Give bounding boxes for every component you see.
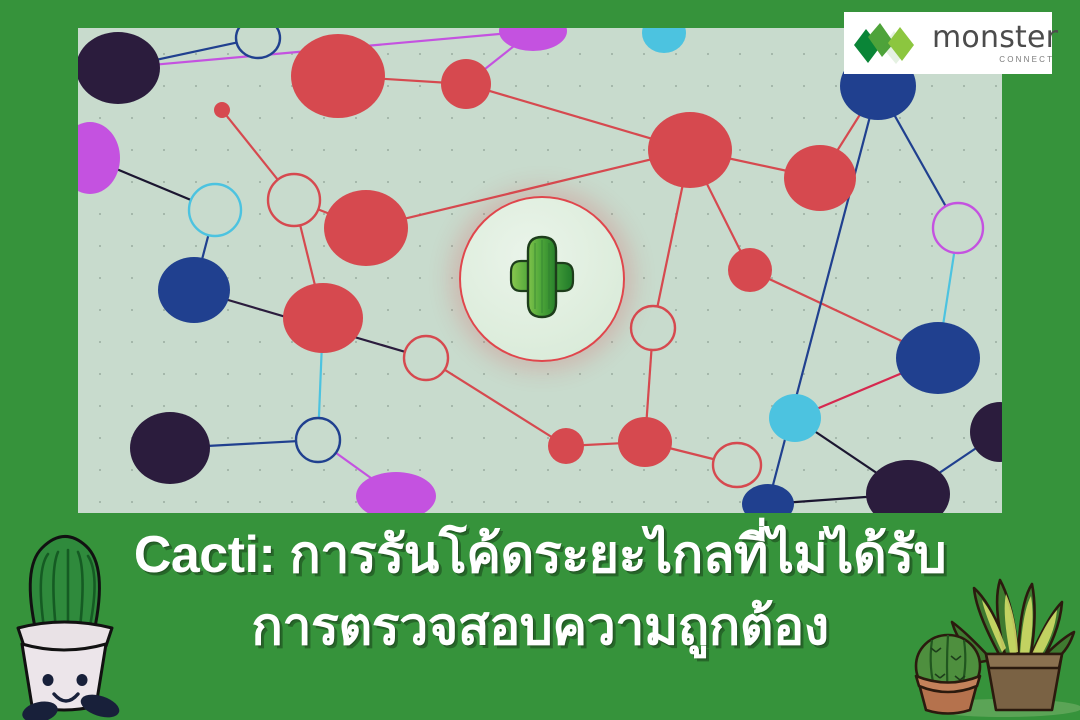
graph-node [236,28,280,58]
graph-node [158,257,230,323]
title-line-1: Cacti: การรันโค้ดระยะไกลที่ไม่ได้รับ [134,524,946,586]
brand-text-block: monster CONNECT [926,23,1058,64]
graph-node [404,336,448,380]
graph-node [742,484,794,513]
graph-node [648,112,732,188]
monster-connect-logo: monster CONNECT [844,12,1052,74]
graph-node [642,28,686,53]
graph-node [618,417,672,467]
graph-node [728,248,772,292]
graph-node [324,190,408,266]
graph-node [866,460,950,513]
graph-node [548,428,584,464]
graph-edge [426,358,566,446]
graph-node [896,322,980,394]
graph-node [441,59,491,109]
graph-node [214,102,230,118]
brand-name: monster [932,23,1058,53]
graph-node [784,145,856,211]
graph-node [296,418,340,462]
graph-node [78,122,120,194]
graph-node [283,283,363,353]
graph-node [713,443,761,487]
graph-node [130,412,210,484]
graph-node [78,32,160,104]
title-line-2: การตรวจสอบความถูกต้อง [251,596,828,658]
graph-node [189,184,241,236]
graph-node [291,34,385,118]
center-cactus-badge [459,196,625,362]
smiling-cactus-pot-illustration [0,520,132,720]
poster-canvas: monster CONNECT Cacti: การรันโค้ดระยะไกล… [0,0,1080,720]
graph-node [268,174,320,226]
graph-node [933,203,983,253]
graph-node [631,306,675,350]
cactus-icon [499,231,585,327]
graph-node [356,472,436,513]
network-graph-panel [78,28,1002,513]
graph-node [970,402,1002,462]
monster-zigzag-mark-icon [852,21,926,65]
brand-tagline: CONNECT [999,56,1058,64]
cactus-and-snake-plant-illustration [892,548,1080,720]
graph-node [769,394,821,442]
graph-node [499,28,567,51]
